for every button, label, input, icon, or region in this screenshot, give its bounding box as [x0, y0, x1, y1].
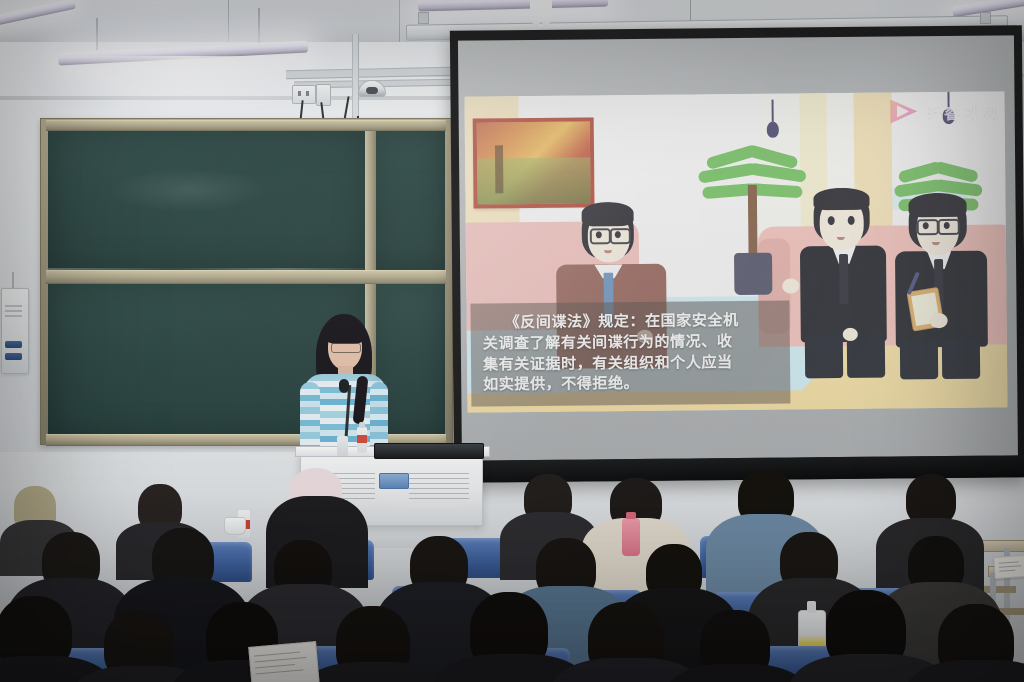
blackboard	[40, 118, 453, 445]
light-hanger	[96, 18, 98, 50]
power-outlet[interactable]	[292, 85, 316, 104]
blackboard-panel	[48, 128, 365, 270]
handout-paper	[248, 641, 320, 682]
play-triangle-icon	[888, 96, 918, 126]
video-painting	[473, 117, 595, 208]
ceiling-seam	[399, 0, 400, 46]
screen-bracket	[980, 12, 991, 24]
light-hanger	[258, 8, 260, 44]
subtitle-line-3: 集有关证据时，有关组织和个人应当	[483, 354, 733, 373]
subtitle-line-1: 《反间谍法》规定：在国家安全机	[505, 312, 739, 331]
conduit-riser	[352, 34, 359, 124]
subtitle-line-4: 如实提供，不得拒绝。	[483, 375, 639, 393]
screen-bracket	[418, 12, 429, 24]
glasses-icon	[331, 343, 361, 353]
projection-screen: 昕睿视频 《反间谍法》规定：在国家安全机 关调查了解有关间谍行为的情况、收 集有…	[450, 25, 1024, 482]
wall-control-panel[interactable]	[1, 288, 29, 374]
video-character-agent	[789, 187, 901, 378]
video-character-note-taker	[887, 193, 999, 379]
subtitle-line-2: 关调查了解有关间谍行为的情况、收	[483, 333, 733, 352]
classroom-photo: 昕睿视频 《反间谍法》规定：在国家安全机 关调查了解有关间谍行为的情况、收 集有…	[0, 0, 1024, 682]
switch-box[interactable]	[316, 84, 331, 106]
video-frame: 昕睿视频 《反间谍法》规定：在国家安全机 关调查了解有关间谍行为的情况、收 集有…	[464, 91, 1007, 412]
video-watermark: 昕睿视频	[888, 95, 1000, 126]
watermark-text: 昕睿视频	[925, 98, 1001, 124]
water-bottle	[622, 518, 640, 556]
blackboard-panel	[375, 130, 445, 270]
audience	[0, 440, 1024, 682]
chalk-tray	[46, 270, 446, 284]
presenter-fringe	[325, 322, 365, 344]
microphone-head	[339, 379, 349, 393]
video-subtitle: 《反间谍法》规定：在国家安全机 关调查了解有关间谍行为的情况、收 集有关证据时，…	[470, 301, 790, 407]
ceiling-seam	[228, 0, 229, 46]
blackboard-rail	[46, 120, 446, 131]
wall-trim	[0, 96, 452, 100]
screen-surface: 昕睿视频 《反间谍法》规定：在国家安全机 关调查了解有关间谍行为的情况、收 集有…	[458, 35, 1018, 460]
